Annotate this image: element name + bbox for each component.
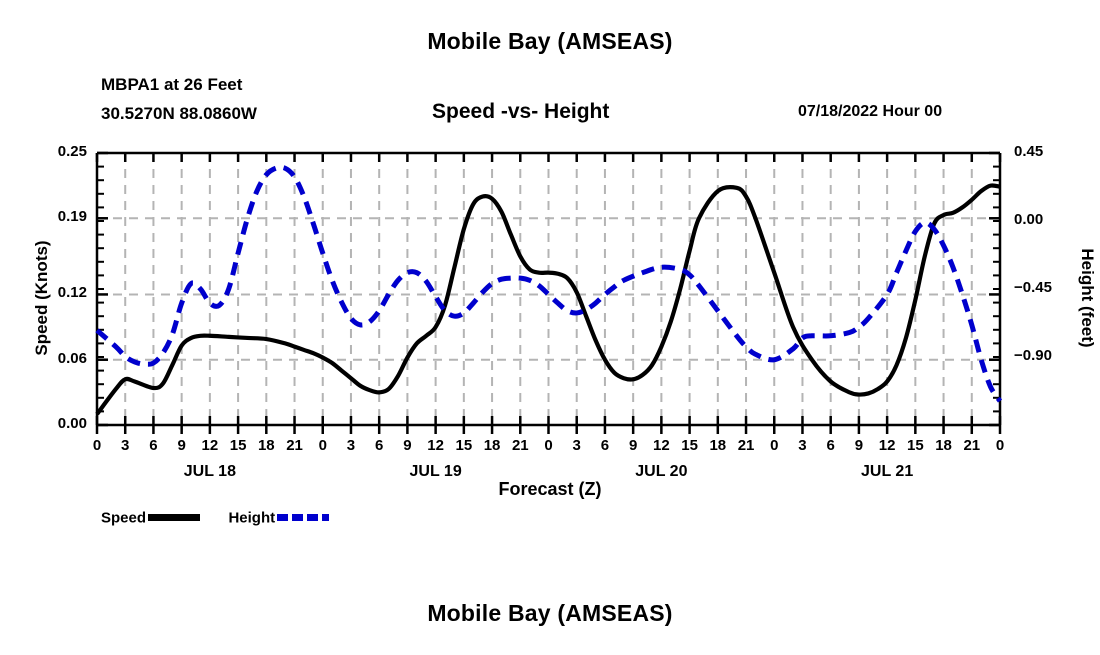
- x-axis-tick-label: 18: [251, 437, 281, 454]
- x-axis-tick-label: 3: [562, 437, 592, 454]
- legend-swatch-speed: [148, 514, 200, 521]
- chart-legend: Speed Height: [101, 509, 353, 529]
- x-axis-tick-label: 15: [675, 437, 705, 454]
- x-axis-day-label: JUL 20: [596, 463, 726, 481]
- x-axis-day-label: JUL 21: [822, 463, 952, 481]
- y-axis-tick-label-right: 0.45: [1014, 143, 1088, 160]
- x-axis-tick-label: 9: [618, 437, 648, 454]
- x-axis-tick-label: 15: [900, 437, 930, 454]
- x-axis-tick-label: 21: [505, 437, 535, 454]
- x-axis-tick-label: 6: [816, 437, 846, 454]
- y-axis-tick-label-right: −0.45: [1014, 279, 1088, 296]
- legend-item-height: Height: [228, 509, 329, 527]
- x-axis-tick-label: 12: [872, 437, 902, 454]
- x-axis-tick-label: 21: [280, 437, 310, 454]
- x-axis-tick-label: 3: [787, 437, 817, 454]
- x-axis-tick-label: 12: [421, 437, 451, 454]
- x-axis-tick-label: 9: [844, 437, 874, 454]
- legend-label-speed: Speed: [101, 509, 146, 526]
- legend-swatch-height: [277, 514, 329, 521]
- x-axis-tick-label: 6: [590, 437, 620, 454]
- x-axis-tick-label: 6: [138, 437, 168, 454]
- x-axis-tick-label: 0: [308, 437, 338, 454]
- chart-svg: [0, 0, 1100, 650]
- x-axis-tick-label: 18: [929, 437, 959, 454]
- x-axis-tick-label: 9: [167, 437, 197, 454]
- x-axis-day-label: JUL 18: [145, 463, 275, 481]
- y-axis-tick-label-left: 0.12: [13, 284, 87, 301]
- y-axis-tick-label-left: 0.19: [13, 208, 87, 225]
- x-axis-tick-label: 9: [392, 437, 422, 454]
- x-axis-tick-label: 12: [646, 437, 676, 454]
- x-axis-tick-label: 3: [336, 437, 366, 454]
- x-axis-tick-label: 0: [759, 437, 789, 454]
- footer-title: Mobile Bay (AMSEAS): [0, 600, 1100, 627]
- y-axis-tick-label-right: 0.00: [1014, 211, 1088, 228]
- y-axis-tick-label-left: 0.00: [13, 415, 87, 432]
- chart-plot-area: [0, 0, 1100, 650]
- x-axis-tick-label: 21: [957, 437, 987, 454]
- x-axis-tick-label: 15: [223, 437, 253, 454]
- y-axis-tick-label-right: −0.90: [1014, 347, 1088, 364]
- legend-label-height: Height: [228, 509, 275, 526]
- x-axis-tick-label: 18: [703, 437, 733, 454]
- x-axis-tick-label: 6: [364, 437, 394, 454]
- x-axis-tick-label: 0: [985, 437, 1015, 454]
- x-axis-tick-label: 3: [110, 437, 140, 454]
- y-axis-tick-label-left: 0.06: [13, 350, 87, 367]
- x-axis-tick-label: 21: [731, 437, 761, 454]
- x-axis-day-label: JUL 19: [371, 463, 501, 481]
- x-axis-tick-label: 18: [477, 437, 507, 454]
- x-axis-tick-label: 12: [195, 437, 225, 454]
- y-axis-tick-label-left: 0.25: [13, 143, 87, 160]
- x-axis-tick-label: 0: [534, 437, 564, 454]
- x-axis-tick-label: 15: [449, 437, 479, 454]
- legend-item-speed: Speed: [101, 509, 200, 527]
- x-axis-tick-label: 0: [82, 437, 112, 454]
